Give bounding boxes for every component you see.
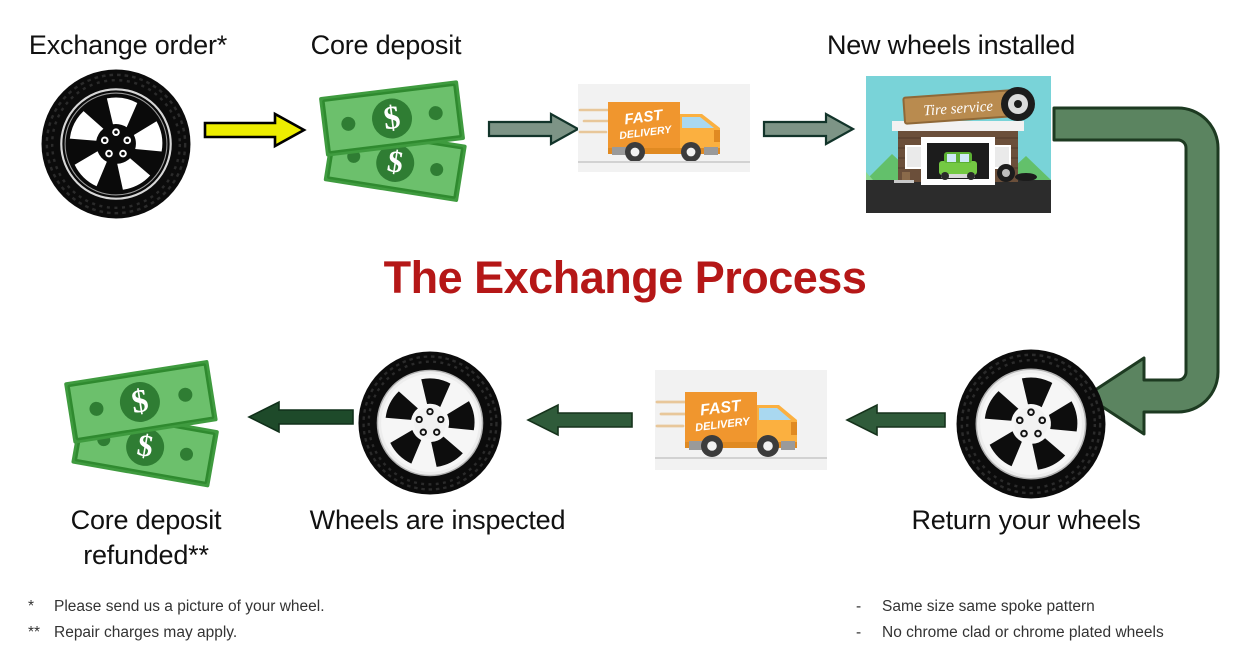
step-label-return-wheels: Return your wheels: [890, 503, 1162, 538]
exchange-process-diagram: Exchange order* Core deposit New wheels …: [0, 0, 1250, 666]
arrow-truck-to-shop: [762, 111, 856, 147]
alloy-wheel-silver-return-icon: [955, 348, 1107, 500]
footnote-text: No chrome clad or chrome plated wheels: [882, 620, 1250, 646]
footnote-text: Same size same spoke pattern: [882, 594, 1250, 620]
footnote-item: ** Repair charges may apply.: [28, 620, 448, 646]
alloy-wheel-silver-inspect-icon: [357, 350, 503, 496]
footnote-mark: *: [28, 594, 54, 620]
alloy-wheel-black-icon: [40, 68, 192, 220]
step-label-deposit-refunded: Core deposit refunded**: [20, 503, 272, 572]
footnote-text: Repair charges may apply.: [54, 620, 448, 646]
arrow-order-to-deposit: [203, 110, 307, 150]
footnotes-right: - Same size same spoke pattern - No chro…: [856, 594, 1250, 645]
cash-bills-green-refund-icon: $ $: [58, 348, 234, 490]
footnote-item: - Same size same spoke pattern: [856, 594, 1250, 620]
arrow-truck-to-inspect: [524, 403, 634, 437]
step-label-wheels-installed: New wheels installed: [800, 28, 1102, 63]
footnote-item: * Please send us a picture of your wheel…: [28, 594, 448, 620]
footnote-mark: -: [856, 594, 882, 620]
fast-delivery-truck-bottom: FAST DELIVERY: [655, 370, 827, 470]
footnote-text: Please send us a picture of your wheel.: [54, 594, 448, 620]
footnote-mark: -: [856, 620, 882, 646]
arrow-deposit-to-truck: [487, 111, 581, 147]
fast-delivery-truck-top: FAST DELIVERY: [578, 84, 750, 172]
footnote-item: - No chrome clad or chrome plated wheels: [856, 620, 1250, 646]
arrow-inspect-to-refund: [245, 400, 355, 434]
tire-service-shop-icon: Tire service: [866, 76, 1051, 213]
page-title: The Exchange Process: [0, 252, 1250, 304]
step-label-exchange-order: Exchange order*: [0, 28, 256, 63]
arrow-return-to-truck: [843, 403, 947, 437]
step-label-wheels-inspected: Wheels are inspected: [300, 503, 575, 538]
footnotes-left: * Please send us a picture of your wheel…: [28, 594, 448, 645]
cash-bills-green-icon: $ $: [312, 66, 480, 206]
footnote-mark: **: [28, 620, 54, 646]
step-label-core-deposit: Core deposit: [270, 28, 502, 63]
